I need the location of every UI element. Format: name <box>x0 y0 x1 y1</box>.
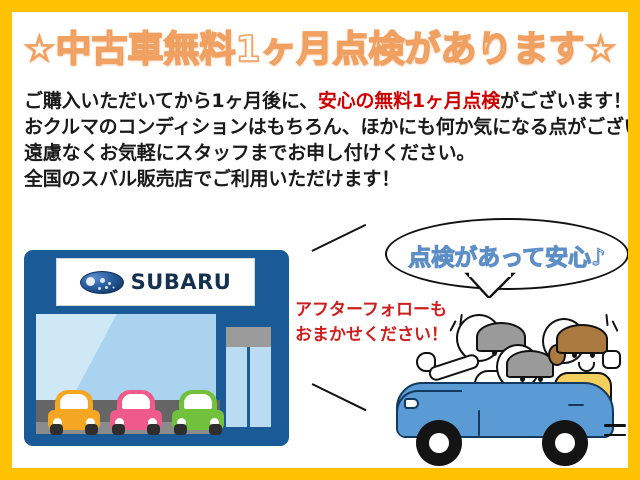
car-tire-right <box>85 424 98 435</box>
car-windshield <box>184 394 212 409</box>
car-tire-right <box>209 424 222 435</box>
pointer-line-top <box>311 224 366 252</box>
mother-eye-right <box>590 352 595 358</box>
promotion-poster: ☆中古車無料1ヶ月点検があります☆ ご購入いただいてから1ヶ月後に、安心の無料1… <box>0 0 640 480</box>
dealership-sign: SUBARU <box>56 258 255 306</box>
car-windshield <box>122 394 150 409</box>
speech-bubble-text: 点検があって安心♪ <box>385 238 629 272</box>
page-title: ☆中古車無料1ヶ月点検があります☆ <box>12 20 628 72</box>
poster-inner: ☆中古車無料1ヶ月点検があります☆ ご購入いただいてから1ヶ月後に、安心の無料1… <box>12 12 628 468</box>
motion-lines <box>604 424 626 443</box>
family-car-tire-front <box>416 420 462 466</box>
car-tire-left <box>112 424 125 435</box>
pointer-line-bottom <box>311 383 366 411</box>
sparkle-line <box>611 320 618 332</box>
showroom-car-green <box>172 390 224 434</box>
entrance-door <box>220 322 277 434</box>
car-tire-left <box>174 424 187 435</box>
family-car-tire-rear <box>542 420 588 466</box>
dealership-illustration: SUBARU <box>24 250 289 446</box>
body-line-1-prefix: ご購入いただいてから1ヶ月後に、 <box>24 90 318 112</box>
speech-bubble: 点検があって安心♪ <box>385 218 629 298</box>
mother-mouth <box>578 362 595 372</box>
body-line-1-highlight: 安心の無料1ヶ月点検 <box>318 90 500 112</box>
sparkle-line <box>449 320 457 332</box>
subaru-oval-logo <box>80 271 124 294</box>
sparkle-line <box>605 314 609 326</box>
body-line-1: ご購入いただいてから1ヶ月後に、安心の無料1ヶ月点検がございます！ <box>24 88 624 114</box>
family-car-door-handle <box>568 404 584 406</box>
body-line-2: おクルマのコンディションはもちろん、ほかにも何か気になる点がございましたら <box>24 114 624 140</box>
door-header <box>226 327 271 347</box>
car-windshield <box>60 394 88 409</box>
showroom-car-orange <box>48 390 100 434</box>
family-car-headlight <box>404 398 419 409</box>
door-panel-left <box>226 347 247 427</box>
body-line-4: 全国のスバル販売店でご利用いただけます！ <box>24 166 624 192</box>
door-panel-right <box>250 347 271 427</box>
car-tire-left <box>50 424 63 435</box>
mother-hair <box>556 324 608 354</box>
body-line-1-suffix: がございます！ <box>500 90 632 112</box>
showroom-car-pink <box>110 390 162 434</box>
family-car-illustration <box>390 298 628 468</box>
mother-eye-left <box>572 352 577 358</box>
mother-fist <box>602 350 621 369</box>
subaru-wordmark: SUBARU <box>131 270 232 294</box>
car-tire-right <box>147 424 160 435</box>
body-text-block: ご購入いただいてから1ヶ月後に、安心の無料1ヶ月点検がございます！ おクルマのコ… <box>24 88 624 192</box>
family-car-door-seam <box>478 410 480 436</box>
body-line-3: 遠慮なくお気軽にスタッフまでお申し付けください。 <box>24 140 624 166</box>
